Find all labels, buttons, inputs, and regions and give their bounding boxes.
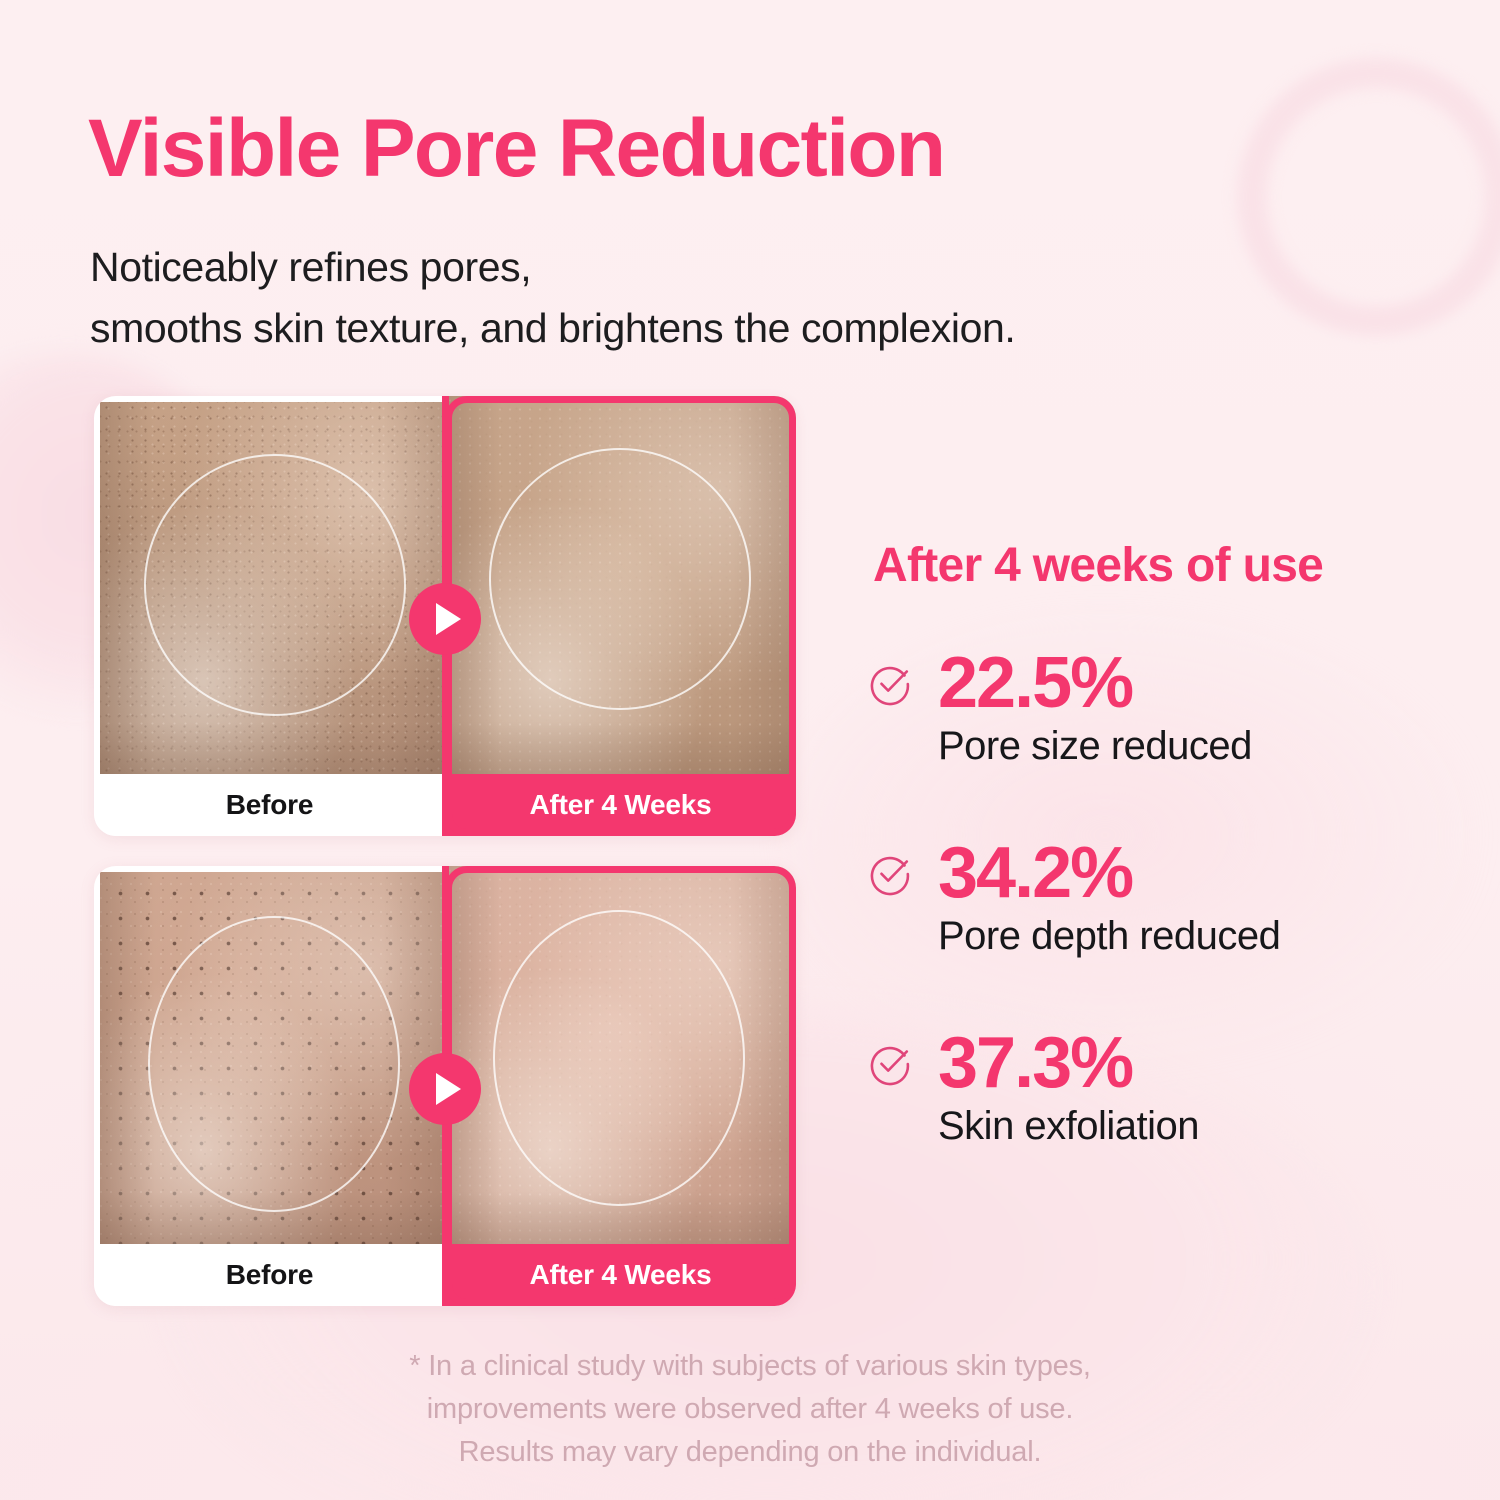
stat-value: 37.3%: [938, 1030, 1132, 1098]
stat-value: 34.2%: [938, 840, 1132, 908]
after-skin-photo-1: [445, 396, 796, 774]
skin-edge-shadow: [100, 402, 445, 774]
decorative-ring: [1237, 58, 1500, 336]
play-triangle: [436, 1073, 461, 1105]
after-pane-2: After 4 Weeks: [445, 866, 796, 1306]
footnote-line-1: * In a clinical study with subjects of v…: [0, 1345, 1500, 1388]
after-pane-1: After 4 Weeks: [445, 396, 796, 836]
stat-label: Pore depth reduced: [938, 914, 1488, 959]
comparison-panes: Before After 4 Weeks: [94, 866, 796, 1306]
skin-edge-shadow: [445, 866, 796, 1244]
stat-label: Skin exfoliation: [938, 1104, 1488, 1149]
before-skin-photo-2: [100, 872, 445, 1244]
after-skin-photo-2: [445, 866, 796, 1244]
before-pane-1: Before: [94, 396, 445, 836]
footnote-line-3: Results may vary depending on the indivi…: [0, 1431, 1500, 1474]
footnote: * In a clinical study with subjects of v…: [0, 1345, 1500, 1474]
check-circle-icon: [868, 852, 912, 896]
stat-value: 22.5%: [938, 650, 1132, 718]
infographic-page: Visible Pore Reduction Noticeably refine…: [0, 0, 1500, 1500]
check-circle-icon: [868, 662, 912, 706]
subtitle-line-1: Noticeably refines pores,: [90, 237, 1015, 298]
comparison-card-row-2: Before After 4 Weeks: [94, 866, 796, 1306]
play-triangle: [436, 603, 461, 635]
stat-item-pore-depth: 34.2% Pore depth reduced: [868, 840, 1488, 959]
play-icon[interactable]: [409, 1053, 481, 1125]
stat-head: 37.3%: [868, 1030, 1488, 1098]
stat-head: 22.5%: [868, 650, 1488, 718]
stat-head: 34.2%: [868, 840, 1488, 908]
skin-edge-shadow: [445, 396, 796, 774]
skin-edge-shadow: [100, 872, 445, 1244]
stat-item-exfoliation: 37.3% Skin exfoliation: [868, 1030, 1488, 1149]
after-caption-2: After 4 Weeks: [445, 1244, 796, 1306]
subtitle-line-2: smooths skin texture, and brightens the …: [90, 298, 1015, 359]
after-caption-1: After 4 Weeks: [445, 774, 796, 836]
before-caption-1: Before: [94, 774, 445, 836]
page-title: Visible Pore Reduction: [88, 108, 944, 190]
check-circle-icon: [868, 1042, 912, 1086]
footnote-line-2: improvements were observed after 4 weeks…: [0, 1388, 1500, 1431]
before-skin-photo-1: [100, 402, 445, 774]
before-caption-2: Before: [94, 1244, 445, 1306]
stat-label: Pore size reduced: [938, 724, 1488, 769]
play-icon[interactable]: [409, 583, 481, 655]
comparison-card-row-1: Before After 4 Weeks: [94, 396, 796, 836]
comparison-panes: Before After 4 Weeks: [94, 396, 796, 836]
page-subtitle: Noticeably refines pores, smooths skin t…: [90, 237, 1015, 358]
stat-item-pore-size: 22.5% Pore size reduced: [868, 650, 1488, 769]
stats-heading: After 4 weeks of use: [873, 538, 1323, 593]
before-pane-2: Before: [94, 866, 445, 1306]
